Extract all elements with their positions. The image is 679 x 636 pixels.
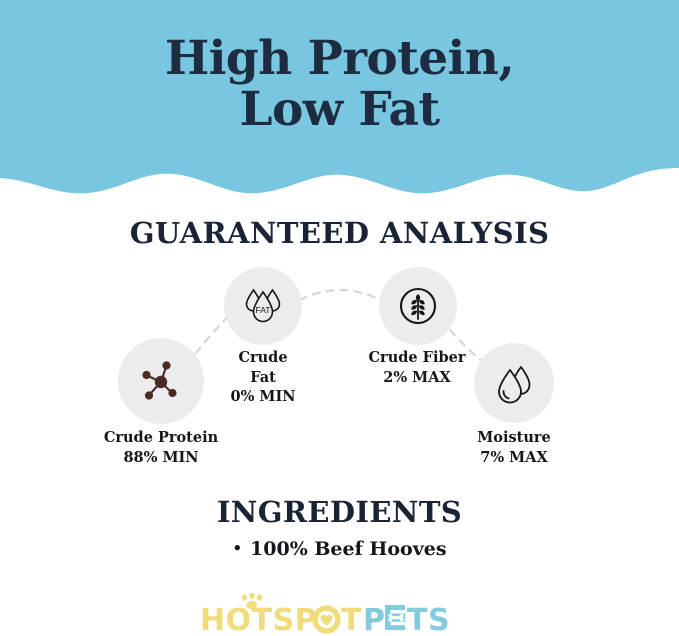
moisture-icon-circle	[474, 343, 554, 423]
crude-fat-label: Crude Fat 0% MIN	[183, 348, 343, 407]
hotspotpets-logo: HOTSP T P TS	[200, 593, 480, 635]
brand-logo: HOTSP T P TS	[0, 592, 679, 636]
logo-text-hotspot: HOTSP	[200, 603, 317, 635]
crude-fiber-icon-circle	[379, 267, 457, 345]
fat-droplets-icon: FAT	[240, 283, 286, 329]
ingredients-heading: INGREDIENTS	[0, 495, 679, 529]
page-title: High Protein, Low Fat	[0, 34, 679, 136]
ingredients-list: •100% Beef Hooves	[0, 536, 679, 563]
logo-text-t: T	[341, 603, 362, 635]
guaranteed-analysis-heading: GUARANTEED ANALYSIS	[0, 216, 679, 250]
crude-protein-label: Crude Protein 88% MIN	[63, 428, 259, 467]
crude-fat-icon-circle: FAT	[224, 267, 302, 345]
product-info-graphic: High Protein, Low Fat GUARANTEED ANALYSI…	[0, 0, 679, 636]
guaranteed-analysis-diagram: Crude Protein 88% MIN FAT Crude Fat 0% M…	[0, 258, 679, 483]
title-line-2: Low Fat	[0, 85, 679, 136]
wheat-icon	[395, 283, 441, 329]
title-line-1: High Protein,	[165, 31, 514, 86]
list-item: •100% Beef Hooves	[0, 536, 679, 563]
heart-icon	[312, 605, 340, 633]
header-banner: High Protein, Low Fat	[0, 0, 679, 205]
logo-text-ts: TS	[407, 603, 450, 635]
logo-text-p: P	[363, 603, 386, 635]
bone-icon	[385, 605, 406, 630]
bullet-icon: •	[232, 538, 242, 559]
connector-fat-fiber	[300, 290, 381, 300]
moisture-label: Moisture 7% MAX	[434, 428, 594, 467]
molecule-icon	[136, 356, 186, 406]
ingredient-text: 100% Beef Hooves	[250, 538, 446, 560]
fat-icon-text: FAT	[255, 305, 271, 315]
crude-fiber-label: Crude Fiber 2% MAX	[337, 348, 497, 387]
water-droplets-icon	[490, 359, 538, 407]
